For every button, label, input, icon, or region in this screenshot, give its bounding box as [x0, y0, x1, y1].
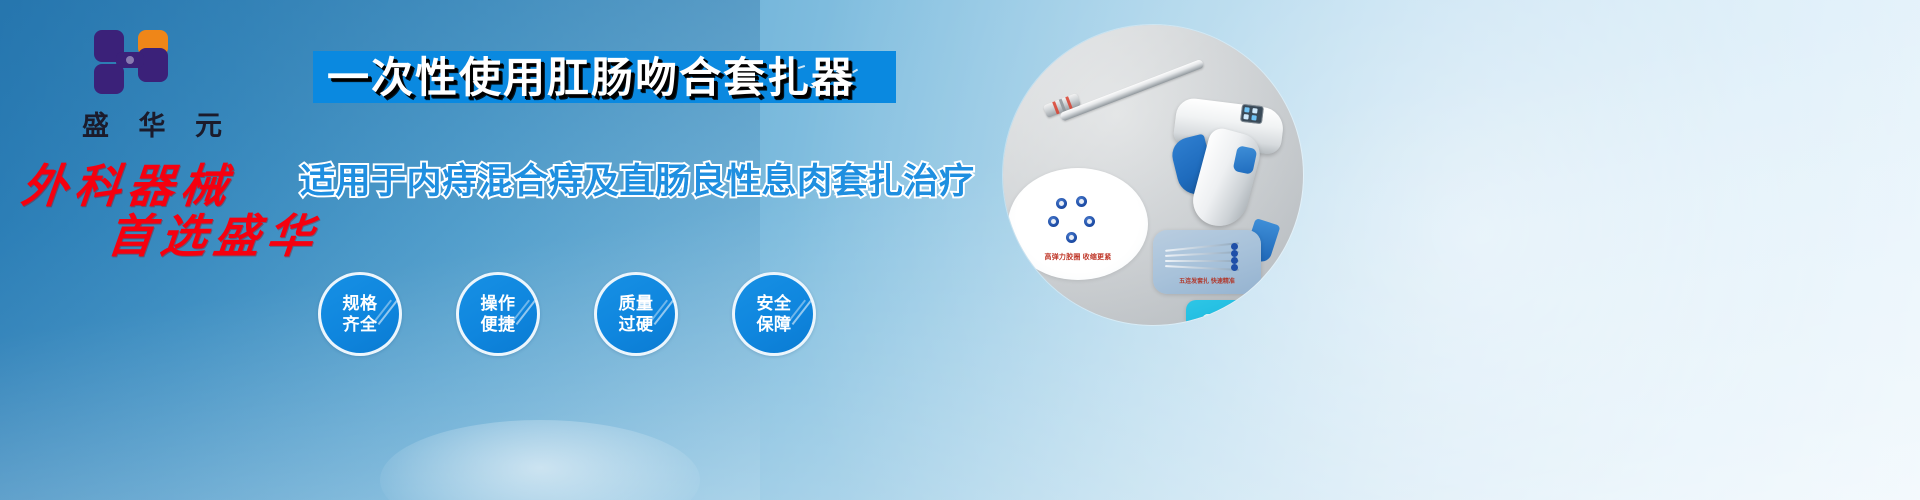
feature-label-line1: 质量	[619, 293, 654, 314]
tube-cap-icon	[1278, 312, 1294, 325]
shenghuayuan-blocks-logo-icon	[94, 28, 172, 96]
feature-label-line2: 保障	[757, 314, 792, 335]
feature-label-line2: 齐全	[343, 314, 378, 335]
feature-circle-1[interactable]: 规格 齐全	[318, 272, 402, 356]
tube-inset	[1186, 300, 1303, 325]
rubber-band-icon	[1066, 232, 1077, 243]
page-title: 一次性使用肛肠吻合套扎器	[327, 50, 887, 106]
rubber-bands-inset: 高弹力胶圈 收缩更紧	[1008, 168, 1148, 280]
feature-label-line2: 便捷	[481, 314, 516, 335]
feature-circle-list: 规格 齐全 操作 便捷 质量 过硬 安全 保障	[318, 272, 858, 356]
product-photo[interactable]: 高弹力胶圈 收缩更紧 五连发套扎 快速精准	[1003, 25, 1303, 325]
needle-icon	[1165, 265, 1239, 271]
tube-body-icon	[1202, 314, 1288, 325]
feature-label-line1: 规格	[343, 293, 378, 314]
rubber-bands-caption: 高弹力胶圈 收缩更紧	[1008, 252, 1148, 262]
rubber-band-icon	[1084, 216, 1095, 227]
feature-circle-3[interactable]: 质量 过硬	[594, 272, 678, 356]
background-bottom-glow	[380, 420, 700, 500]
brand-name: 盛 华 元	[62, 104, 242, 143]
promo-banner: 盛 华 元 一次性使用肛肠吻合套扎器 外科器械 首选盛华 适用于内痔混合痔及直肠…	[0, 0, 1920, 500]
rubber-band-icon	[1048, 216, 1059, 227]
needle-head-icon	[1231, 243, 1238, 250]
feature-circle-4[interactable]: 安全 保障	[732, 272, 816, 356]
brand-logo[interactable]: 盛 华 元	[62, 28, 242, 128]
rubber-band-icon	[1056, 198, 1067, 209]
needles-caption: 五连发套扎 快速精准	[1153, 276, 1261, 285]
feature-circle-2[interactable]: 操作 便捷	[456, 272, 540, 356]
needle-head-icon	[1231, 250, 1238, 257]
device-control-panel-icon	[1240, 104, 1264, 125]
slogan-line-2: 首选盛华	[105, 200, 324, 266]
feature-label-line2: 过硬	[619, 314, 654, 335]
rubber-band-icon	[1076, 196, 1087, 207]
needles-inset: 五连发套扎 快速精准	[1153, 230, 1261, 294]
subtitle: 适用于内痔混合痔及直肠良性息肉套扎治疗	[300, 158, 920, 206]
feature-label-line1: 安全	[757, 293, 792, 314]
needle-icon	[1165, 242, 1239, 252]
needle-head-icon	[1231, 257, 1238, 264]
needle-head-icon	[1231, 264, 1238, 271]
needle-icon	[1165, 251, 1239, 257]
needle-icon	[1165, 260, 1239, 262]
feature-label-line1: 操作	[481, 293, 516, 314]
